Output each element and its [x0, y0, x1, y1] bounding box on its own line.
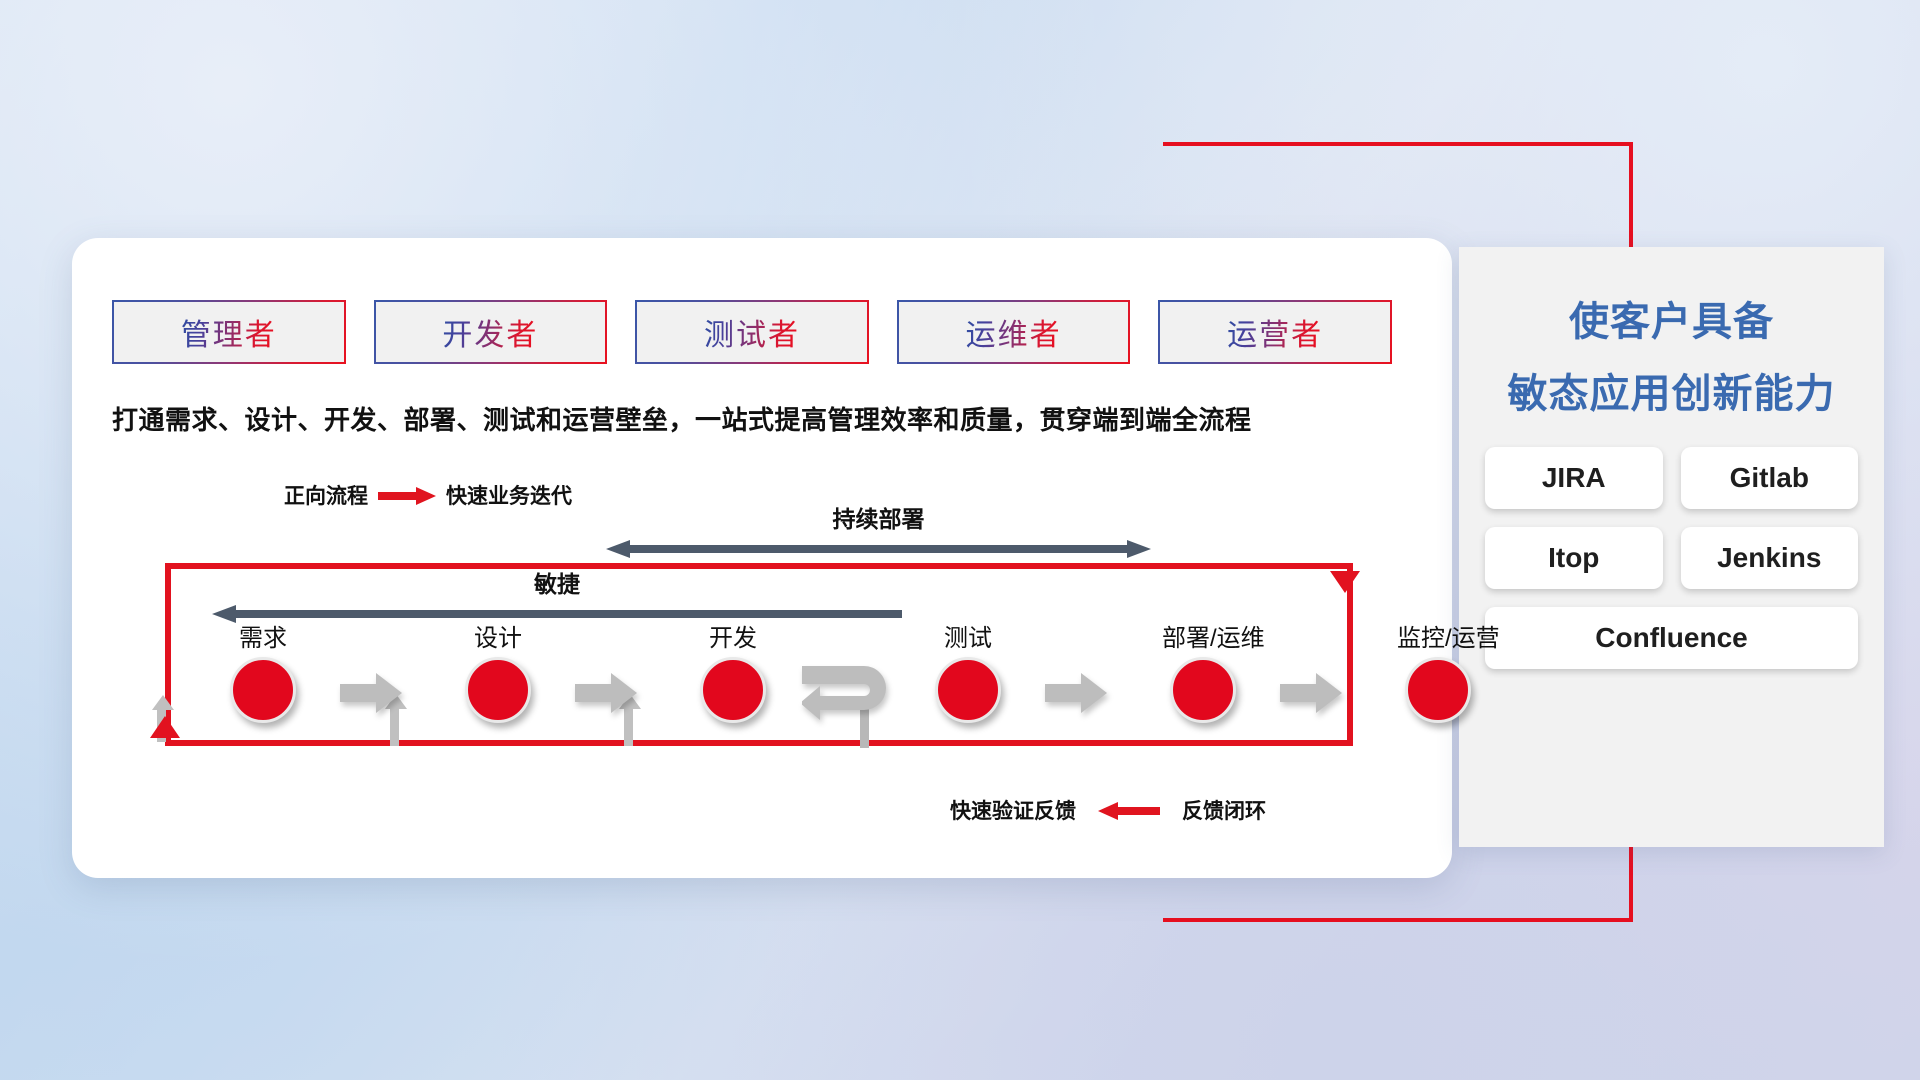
role-box-row: 管理者 开发者 测试者 运维者 运营者	[112, 300, 1392, 364]
node-label: 部署/运维	[1162, 618, 1244, 653]
node-dot-icon	[700, 657, 766, 723]
role-label: 运维者	[966, 310, 1062, 354]
role-box-operations[interactable]: 运营者	[1158, 300, 1392, 364]
role-label: 测试者	[704, 310, 800, 354]
headline-text: 打通需求、设计、开发、部署、测试和运营壁垒，一站式提高管理效率和质量，贯穿端到端…	[112, 400, 1412, 437]
connector-arrow-4	[1045, 673, 1107, 713]
node-dot-icon	[1170, 657, 1236, 723]
node-dot-icon	[935, 657, 1001, 723]
arrow-head-right-icon	[1127, 540, 1151, 558]
role-box-ops[interactable]: 运维者	[897, 300, 1131, 364]
tool-chip-gitlab[interactable]: Gitlab	[1681, 447, 1859, 509]
connector-arrow-2	[575, 673, 637, 713]
pipeline-node-design[interactable]: 设计	[457, 618, 539, 723]
connector-arrow-1	[340, 673, 402, 713]
node-label: 测试	[927, 618, 1009, 653]
node-label: 监控/运营	[1397, 618, 1479, 653]
forward-flow-target-label: 快速业务迭代	[446, 480, 572, 510]
tool-chip-jenkins[interactable]: Jenkins	[1681, 527, 1859, 589]
feedback-source-label: 反馈闭环	[1182, 795, 1266, 825]
node-label: 开发	[692, 618, 774, 653]
role-box-developer[interactable]: 开发者	[374, 300, 608, 364]
forward-flow-annotation: 正向流程 快速业务迭代	[284, 480, 572, 510]
node-dot-icon	[1405, 657, 1471, 723]
role-label: 管理者	[181, 310, 277, 354]
pipeline-node-requirement[interactable]: 需求	[222, 618, 304, 723]
red-arrow-left-icon	[1098, 802, 1160, 818]
feedback-loop-annotation: 快速验证反馈 反馈闭环	[950, 795, 1266, 825]
loop-back-icon	[802, 662, 912, 724]
tool-chip-grid: JIRA Gitlab Itop Jenkins Confluence	[1485, 447, 1858, 669]
arrow-shaft	[234, 610, 902, 618]
arrow-shaft	[628, 545, 1129, 553]
role-label: 运营者	[1227, 310, 1323, 354]
node-label: 设计	[457, 618, 539, 653]
role-label: 开发者	[442, 310, 538, 354]
pipeline-node-monitor-operations[interactable]: 监控/运营	[1397, 618, 1479, 723]
arrow-head-left-icon	[606, 540, 630, 558]
side-panel-title-line2: 敏态应用创新能力	[1485, 361, 1858, 419]
pipeline-node-testing[interactable]: 测试	[927, 618, 1009, 723]
forward-flow-source-label: 正向流程	[284, 480, 368, 510]
node-dot-icon	[465, 657, 531, 723]
pipeline-node-deploy-ops[interactable]: 部署/运维	[1162, 618, 1244, 723]
continuous-deployment-span: 持续部署	[606, 500, 1151, 558]
feedback-target-label: 快速验证反馈	[950, 795, 1076, 825]
agile-label: 敏捷	[212, 565, 902, 599]
agile-span: 敏捷	[212, 565, 902, 623]
node-label: 需求	[222, 618, 304, 653]
continuous-deployment-label: 持续部署	[606, 500, 1151, 534]
side-panel-title-line1: 使客户具备	[1485, 289, 1858, 347]
connector-arrow-5	[1280, 673, 1342, 713]
role-box-tester[interactable]: 测试者	[635, 300, 869, 364]
double-headed-arrow-icon	[606, 540, 1151, 558]
node-dot-icon	[230, 657, 296, 723]
side-panel: 使客户具备 敏态应用创新能力 JIRA Gitlab Itop Jenkins …	[1459, 247, 1884, 847]
tool-chip-confluence[interactable]: Confluence	[1485, 607, 1858, 669]
pipeline-node-development[interactable]: 开发	[692, 618, 774, 723]
loop-arrow-down-icon	[1330, 571, 1360, 593]
tool-chip-jira[interactable]: JIRA	[1485, 447, 1663, 509]
red-arrow-right-icon	[378, 487, 436, 503]
delivery-pipeline: 需求 设计 开发 测试 部署/运维	[112, 618, 1422, 738]
tool-chip-itop[interactable]: Itop	[1485, 527, 1663, 589]
role-box-manager[interactable]: 管理者	[112, 300, 346, 364]
